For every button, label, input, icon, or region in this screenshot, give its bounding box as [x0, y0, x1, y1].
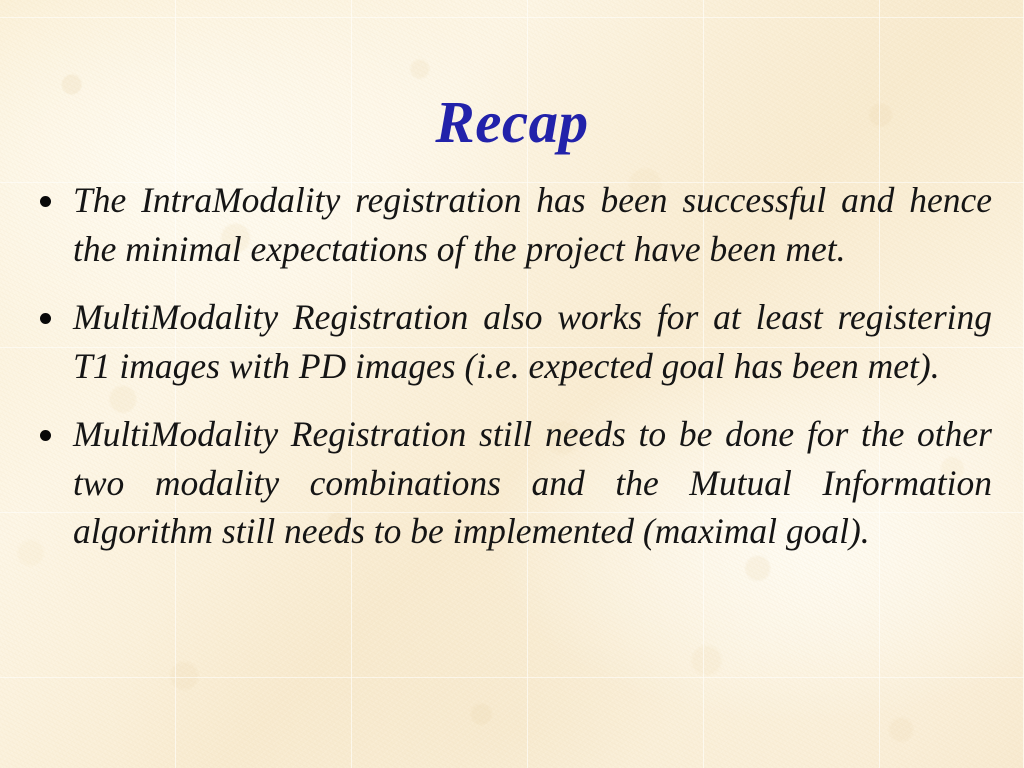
- bullet-item-2-text: MultiModality Registration also works fo…: [73, 293, 992, 390]
- bullet-item-3-text: MultiModality Registration still needs t…: [73, 410, 992, 556]
- bullet-item-2: MultiModality Registration also works fo…: [30, 293, 992, 390]
- round-bullet-icon: [40, 313, 51, 324]
- round-bullet-icon: [40, 430, 51, 441]
- bullet-list: The IntraModality registration has been …: [30, 176, 992, 556]
- slide-content: Recap The IntraModality registration has…: [0, 0, 1024, 768]
- bullet-item-3: MultiModality Registration still needs t…: [30, 410, 992, 556]
- bullet-item-1: The IntraModality registration has been …: [30, 176, 992, 273]
- bullet-item-1-text: The IntraModality registration has been …: [73, 176, 992, 273]
- round-bullet-icon: [40, 196, 51, 207]
- presentation-slide: Recap The IntraModality registration has…: [0, 0, 1024, 768]
- slide-title: Recap: [0, 93, 1024, 152]
